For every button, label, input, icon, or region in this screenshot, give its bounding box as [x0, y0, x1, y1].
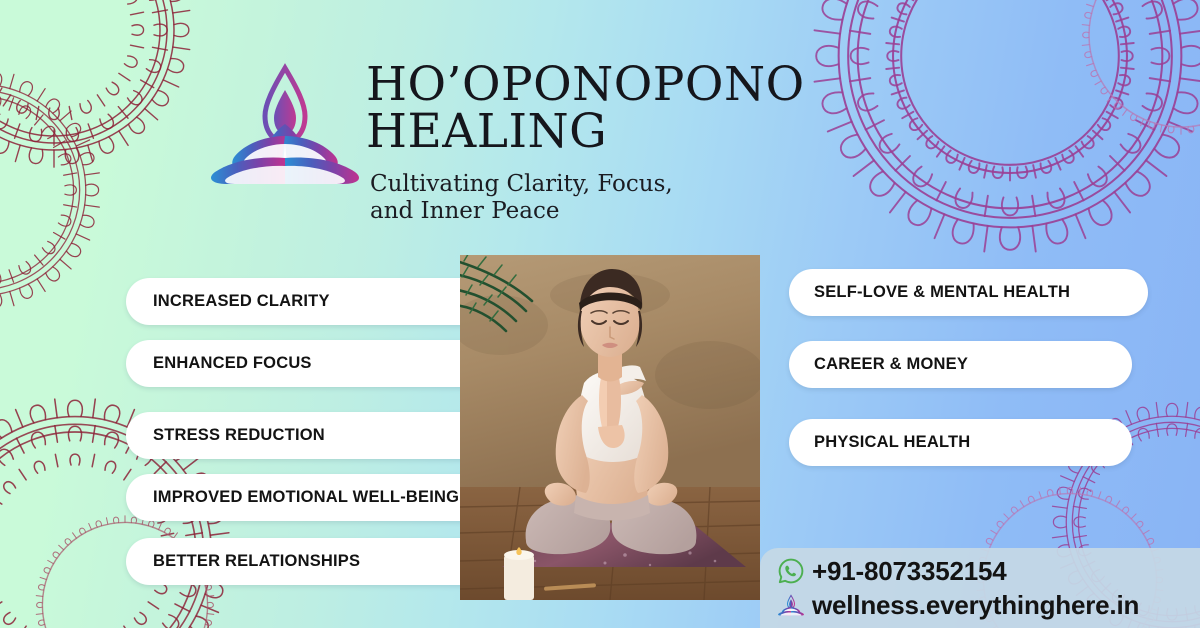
- benefit-pill-left-1[interactable]: ENHANCED FOCUS: [126, 340, 490, 387]
- mandala-ornament-top-right-small: [1066, 0, 1200, 150]
- benefit-pill-right-0[interactable]: SELF-LOVE & MENTAL HEALTH: [789, 269, 1148, 316]
- contact-website-row[interactable]: wellness.everythinghere.in: [774, 588, 1200, 622]
- benefit-pill-right-2[interactable]: PHYSICAL HEALTH: [789, 419, 1132, 466]
- poster-canvas: HO’OPONOPONO HEALING Cultivating Clarity…: [0, 0, 1200, 628]
- whatsapp-icon: [774, 555, 808, 587]
- contact-phone-row[interactable]: +91-8073352154: [774, 554, 1200, 588]
- meditation-photo: [460, 255, 760, 600]
- benefit-pill-right-1[interactable]: CAREER & MONEY: [789, 341, 1132, 388]
- benefit-pill-left-0[interactable]: INCREASED CLARITY: [126, 278, 490, 325]
- lotus-meditation-logo-icon: [199, 62, 371, 184]
- lotus-meditation-logo-icon: [774, 589, 808, 621]
- benefit-pill-label: IMPROVED EMOTIONAL WELL-BEING: [153, 488, 459, 507]
- benefit-pill-label: BETTER RELATIONSHIPS: [153, 552, 360, 571]
- benefit-pill-label: INCREASED CLARITY: [153, 292, 330, 311]
- phone-number: +91-8073352154: [812, 556, 1007, 587]
- benefit-pill-label: PHYSICAL HEALTH: [814, 433, 970, 452]
- mandala-ornament-left-mid: [0, 60, 110, 320]
- benefit-pill-left-2[interactable]: STRESS REDUCTION: [126, 412, 490, 459]
- page-title: HO’OPONOPONO HEALING: [366, 62, 796, 155]
- benefit-pill-left-4[interactable]: BETTER RELATIONSHIPS: [126, 538, 490, 585]
- mandala-ornament-top-right: [806, 0, 1200, 260]
- page-subtitle: Cultivating Clarity, Focus, and Inner Pe…: [370, 171, 796, 225]
- benefit-pill-label: ENHANCED FOCUS: [153, 354, 312, 373]
- website-url: wellness.everythinghere.in: [812, 590, 1139, 621]
- benefit-pill-label: SELF-LOVE & MENTAL HEALTH: [814, 283, 1070, 302]
- contact-panel: +91-8073352154: [760, 548, 1200, 628]
- benefit-pill-label: STRESS REDUCTION: [153, 426, 325, 445]
- mandala-ornament-top-left: [0, 0, 204, 180]
- benefit-pill-label: CAREER & MONEY: [814, 355, 968, 374]
- title-block: HO’OPONOPONO HEALING Cultivating Clarity…: [366, 62, 796, 225]
